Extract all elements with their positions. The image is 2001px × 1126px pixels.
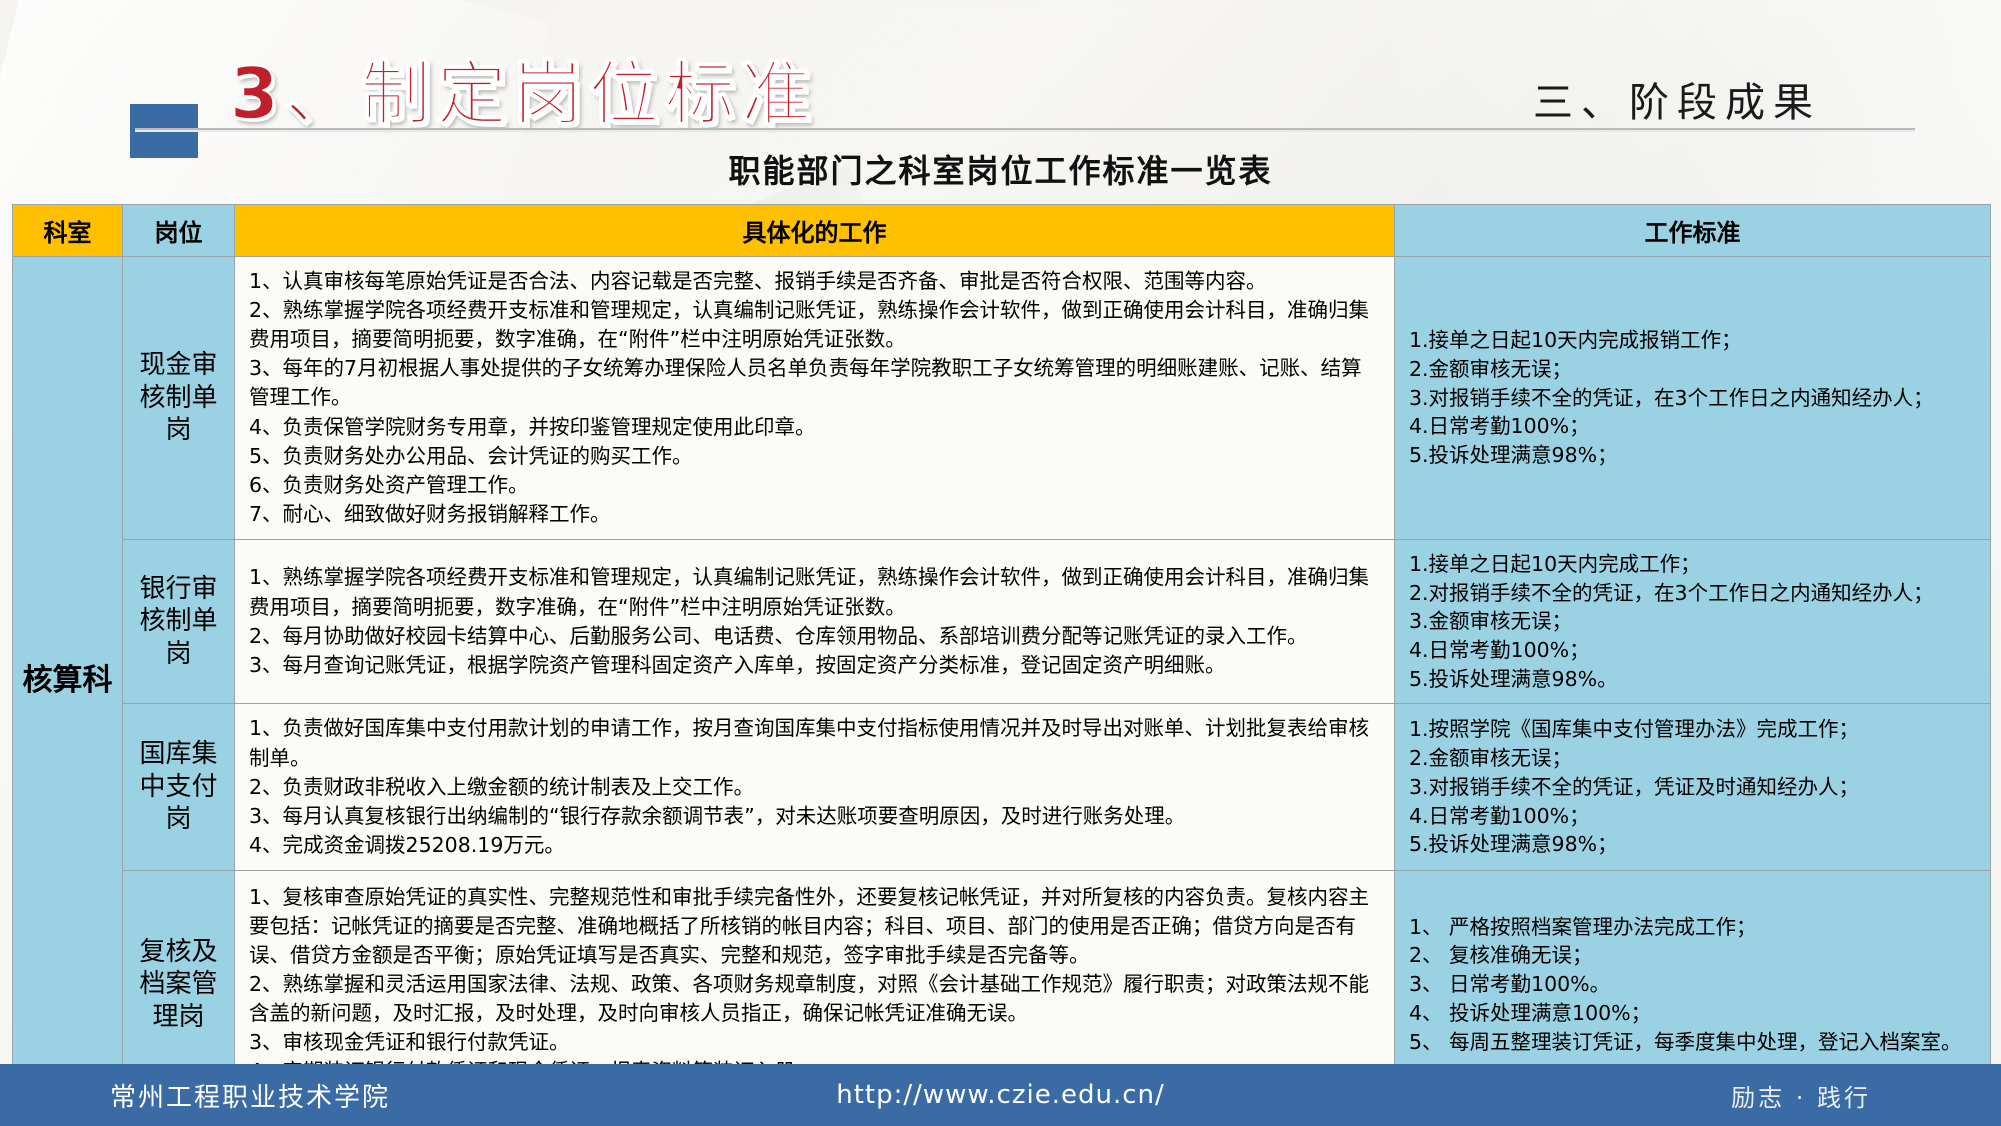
footer-slogan: 励志 · 践行	[1731, 1078, 1871, 1113]
cell-post: 现金审核制单岗	[123, 257, 235, 540]
text-line: 7、耐心、细致做好财务报销解释工作。	[249, 500, 1382, 529]
text-line: 1.接单之日起10天内完成工作；	[1409, 550, 1978, 579]
cell-work: 1、熟练掌握学院各项经费开支标准和管理规定，认真编制记账凭证，熟练操作会计软件，…	[235, 539, 1395, 703]
table-row: 国库集中支付岗 1、负责做好国库集中支付用款计划的申请工作，按月查询国库集中支付…	[13, 704, 1991, 871]
slide-footer: 常州工程职业技术学院 http://www.czie.edu.cn/ 励志 · …	[0, 1064, 2001, 1126]
text-line: 1.按照学院《国库集中支付管理办法》完成工作；	[1409, 715, 1978, 744]
text-line: 3.对报销手续不全的凭证，凭证及时通知经办人；	[1409, 773, 1978, 802]
text-line: 2、每月协助做好校园卡结算中心、后勤服务公司、电话费、仓库领用物品、系部培训费分…	[249, 622, 1382, 651]
text-line: 2.金额审核无误；	[1409, 744, 1978, 773]
text-line: 1、负责做好国库集中支付用款计划的申请工作，按月查询国库集中支付指标使用情况并及…	[249, 714, 1382, 772]
text-line: 3、审核现金凭证和银行付款凭证。	[249, 1028, 1382, 1057]
text-line: 4.日常考勤100%；	[1409, 636, 1978, 665]
column-header-work: 具体化的工作	[235, 205, 1395, 257]
page-title: 3、制定岗位标准	[230, 38, 817, 139]
table-row: 核算科 现金审核制单岗 1、认真审核每笔原始凭证是否合法、内容记载是否完整、报销…	[13, 257, 1991, 540]
cell-work: 1、负责做好国库集中支付用款计划的申请工作，按月查询国库集中支付指标使用情况并及…	[235, 704, 1395, 871]
cell-work: 1、认真审核每笔原始凭证是否合法、内容记载是否完整、报销手续是否齐备、审批是否符…	[235, 257, 1395, 540]
cell-standard: 1.按照学院《国库集中支付管理办法》完成工作；2.金额审核无误；3.对报销手续不…	[1395, 704, 1991, 871]
footer-url[interactable]: http://www.czie.edu.cn/	[836, 1080, 1165, 1110]
text-line: 1、熟练掌握学院各项经费开支标准和管理规定，认真编制记账凭证，熟练操作会计软件，…	[249, 563, 1382, 621]
cell-standard: 1.接单之日起10天内完成报销工作；2.金额审核无误；3.对报销手续不全的凭证，…	[1395, 257, 1991, 540]
column-header-department: 科室	[13, 205, 123, 257]
column-header-post: 岗位	[123, 205, 235, 257]
text-line: 5.投诉处理满意98%。	[1409, 665, 1978, 694]
text-line: 5、 每周五整理装订凭证，每季度集中处理，登记入档案室。	[1409, 1028, 1978, 1057]
cell-post: 国库集中支付岗	[123, 704, 235, 871]
text-line: 4.日常考勤100%；	[1409, 802, 1978, 831]
cell-post: 银行审核制单岗	[123, 539, 235, 703]
cell-department: 核算科	[13, 257, 123, 1099]
section-label: 三、阶段成果	[1533, 70, 1821, 128]
text-line: 2.对报销手续不全的凭证，在3个工作日之内通知经办人；	[1409, 579, 1978, 608]
text-line: 3、 日常考勤100%。	[1409, 970, 1978, 999]
text-line: 3.对报销手续不全的凭证，在3个工作日之内通知经办人；	[1409, 384, 1978, 413]
job-standards-table: 科室 岗位 具体化的工作 工作标准 核算科 现金审核制单岗 1、认真审核每笔原始…	[12, 204, 1991, 1099]
text-line: 1.接单之日起10天内完成报销工作；	[1409, 326, 1978, 355]
header-divider	[135, 128, 1915, 132]
text-line: 1、 严格按照档案管理办法完成工作；	[1409, 913, 1978, 942]
text-line: 4、完成资金调拨25208.19万元。	[249, 831, 1382, 860]
footer-institution: 常州工程职业技术学院	[110, 1077, 390, 1114]
text-line: 2.金额审核无误；	[1409, 355, 1978, 384]
text-line: 2、熟练掌握学院各项经费开支标准和管理规定，认真编制记账凭证，熟练操作会计软件，…	[249, 296, 1382, 354]
table-title: 职能部门之科室岗位工作标准一览表	[0, 146, 2001, 192]
text-line: 2、熟练掌握和灵活运用国家法律、法规、政策、各项财务规章制度，对照《会计基础工作…	[249, 970, 1382, 1028]
text-line: 4、负责保管学院财务专用章，并按印鉴管理规定使用此印章。	[249, 413, 1382, 442]
column-header-standard: 工作标准	[1395, 205, 1991, 257]
slide-header: 3、制定岗位标准 三、阶段成果	[0, 0, 2001, 150]
table-header-row: 科室 岗位 具体化的工作 工作标准	[13, 205, 1991, 257]
text-line: 1、复核审查原始凭证的真实性、完整规范性和审批手续完备性外，还要复核记帐凭证，并…	[249, 883, 1382, 970]
text-line: 3、每月查询记账凭证，根据学院资产管理科固定资产入库单，按固定资产分类标准，登记…	[249, 651, 1382, 680]
text-line: 4、 投诉处理满意100%；	[1409, 999, 1978, 1028]
text-line: 5、负责财务处办公用品、会计凭证的购买工作。	[249, 442, 1382, 471]
text-line: 5.投诉处理满意98%；	[1409, 441, 1978, 470]
text-line: 3、每年的7月初根据人事处提供的子女统筹办理保险人员名单负责每年学院教职工子女统…	[249, 354, 1382, 412]
table-row: 银行审核制单岗 1、熟练掌握学院各项经费开支标准和管理规定，认真编制记账凭证，熟…	[13, 539, 1991, 703]
text-line: 5.投诉处理满意98%；	[1409, 830, 1978, 859]
cell-standard: 1.接单之日起10天内完成工作；2.对报销手续不全的凭证，在3个工作日之内通知经…	[1395, 539, 1991, 703]
text-line: 2、 复核准确无误；	[1409, 941, 1978, 970]
text-line: 6、负责财务处资产管理工作。	[249, 471, 1382, 500]
text-line: 3、每月认真复核银行出纳编制的“银行存款余额调节表”，对未达账项要查明原因，及时…	[249, 802, 1382, 831]
text-line: 2、负责财政非税收入上缴金额的统计制表及上交工作。	[249, 773, 1382, 802]
text-line: 3.金额审核无误；	[1409, 607, 1978, 636]
text-line: 4.日常考勤100%；	[1409, 412, 1978, 441]
text-line: 1、认真审核每笔原始凭证是否合法、内容记载是否完整、报销手续是否齐备、审批是否符…	[249, 267, 1382, 296]
